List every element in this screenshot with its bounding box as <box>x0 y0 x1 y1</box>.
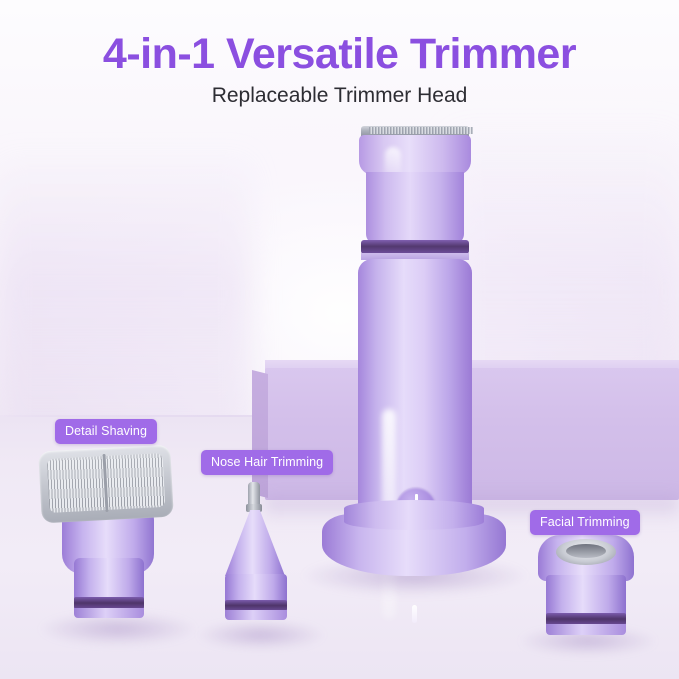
nose-trimmer-base <box>225 610 287 620</box>
label-detail-shaving: Detail Shaving <box>55 419 157 444</box>
background-panel-left <box>0 150 250 450</box>
trimmer-handle <box>358 259 472 509</box>
facial-trimming-attachment <box>528 535 644 645</box>
shaver-base <box>74 608 144 618</box>
facial-base <box>546 624 626 635</box>
main-trimmer <box>355 126 475 506</box>
trimmer-accent-ring <box>361 240 469 254</box>
label-nose-hair-trimming: Nose Hair Trimming <box>201 450 333 475</box>
podium-side-face <box>252 370 268 498</box>
charge-indicator-light <box>412 605 417 623</box>
blade-teeth <box>369 127 473 134</box>
label-facial-trimming: Facial Trimming <box>530 510 640 535</box>
detail-shaving-attachment <box>34 448 184 624</box>
product-image: 4-in-1 Versatile Trimmer Replaceable Tri… <box>0 0 679 679</box>
page-title: 4-in-1 Versatile Trimmer <box>0 30 679 79</box>
nose-hair-attachment <box>205 482 315 628</box>
trimmer-head <box>359 135 471 175</box>
charging-dock <box>322 500 506 578</box>
dock-socket <box>344 500 484 530</box>
page-subtitle: Replaceable Trimmer Head <box>0 84 679 108</box>
nose-trimmer-cone <box>225 510 285 576</box>
trimmer-neck <box>366 172 464 244</box>
facial-cutter-inner <box>566 544 606 558</box>
